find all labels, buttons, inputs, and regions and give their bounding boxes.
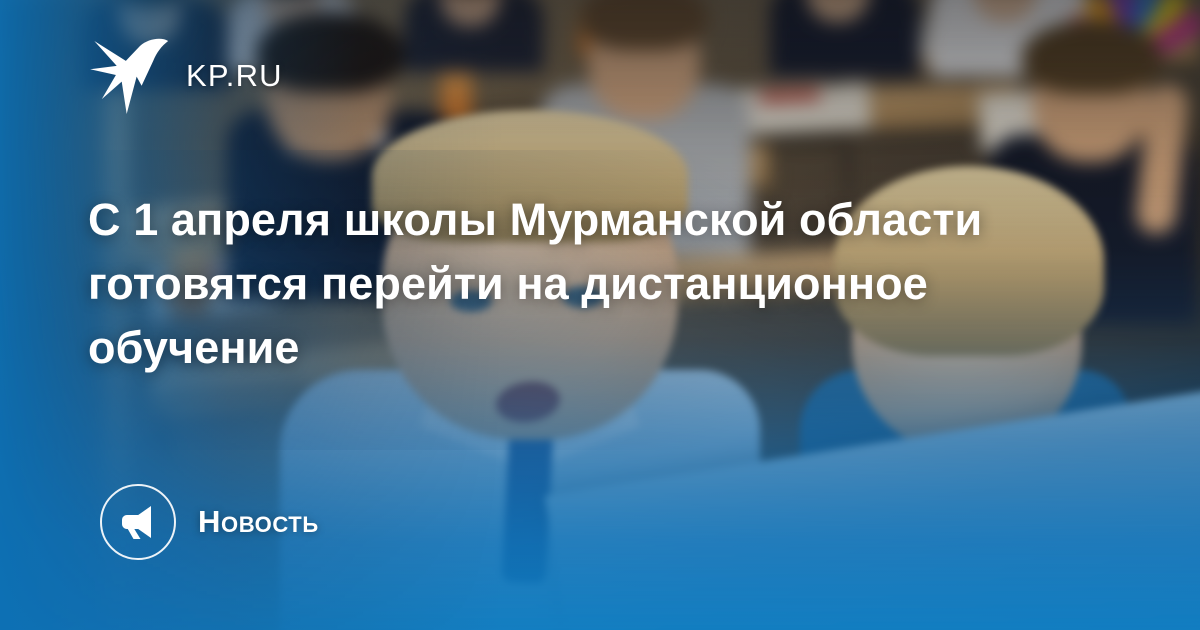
brand-lockup[interactable]: KP.RU — [88, 36, 283, 114]
card-content: KP.RU С 1 апреля школы Мурманской област… — [0, 0, 1200, 630]
page-title: С 1 апреля школы Мурманской области гото… — [88, 188, 988, 380]
swallow-bird-icon — [88, 36, 172, 114]
brand-name: KP.RU — [186, 60, 283, 91]
status-badge[interactable]: Новость — [100, 484, 319, 560]
status-badge-label: Новость — [198, 504, 319, 540]
megaphone-icon — [100, 484, 176, 560]
social-share-card: KP.RU С 1 апреля школы Мурманской област… — [0, 0, 1200, 630]
